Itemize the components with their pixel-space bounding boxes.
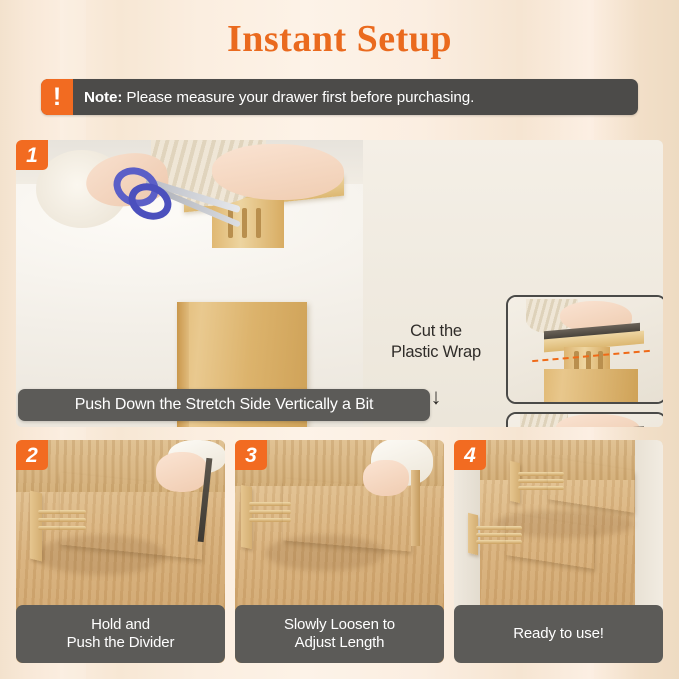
divider-bracket: [241, 485, 252, 549]
exclamation-icon: !: [41, 79, 73, 115]
note-text: Note: Please measure your drawer first b…: [73, 89, 474, 106]
release-instruction-text: Release the Stretch Side Slowly: [361, 424, 511, 427]
step-4-caption: Ready to use!: [454, 605, 663, 663]
hand: [363, 460, 409, 496]
note-banner: ! Note: Please measure your drawer first…: [41, 79, 638, 115]
exclamation-glyph: !: [53, 85, 61, 110]
hand-right: [212, 144, 344, 200]
step-4-number-badge: 4: [454, 440, 486, 470]
step-4-panel: 4 Ready to use!: [454, 440, 663, 663]
step-2-number-badge: 2: [16, 440, 48, 470]
cut-instruction-text: Cut the Plastic Wrap: [361, 321, 511, 364]
note-label: Note:: [84, 89, 122, 106]
step-1-panel: Cut the Plastic Wrap ↓ Release the Stret…: [16, 140, 663, 427]
page-title: Instant Setup: [0, 19, 679, 61]
step-3-panel: 3 Slowly Loosen to Adjust Length: [235, 440, 444, 663]
step-3-number-badge: 3: [235, 440, 267, 470]
step-1-caption: Push Down the Stretch Side Vertically a …: [18, 389, 430, 421]
note-message: Please measure your drawer first before …: [122, 89, 474, 106]
inset-release-photo: ↑: [506, 412, 663, 427]
step-2-caption: Hold and Push the Divider: [16, 605, 225, 663]
step-3-caption: Slowly Loosen to Adjust Length: [235, 605, 444, 663]
step-2-panel: 2 Hold and Push the Divider: [16, 440, 225, 663]
step-1-number-badge: 1: [16, 140, 48, 170]
inset-cut-photo: [506, 295, 663, 404]
hand: [156, 452, 208, 492]
